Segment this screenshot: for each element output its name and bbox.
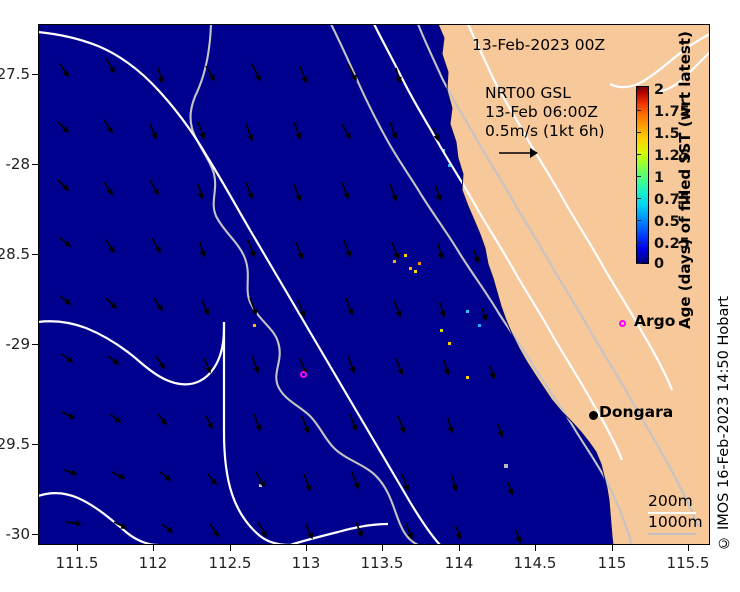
x-tick-label: 115 bbox=[598, 554, 627, 572]
x-tick-label: 113.5 bbox=[361, 554, 404, 572]
y-tick-label: -29 bbox=[6, 335, 31, 353]
colorbar-tick-label: 2 bbox=[654, 82, 664, 98]
product-label: NRT00 GSL bbox=[485, 84, 571, 102]
reference-arrow-icon bbox=[498, 146, 538, 160]
y-tick-label: -27.5 bbox=[0, 65, 30, 83]
y-tick-label: -30 bbox=[6, 525, 31, 543]
x-tick-label: 114 bbox=[445, 554, 474, 572]
x-tick-label: 112.5 bbox=[209, 554, 252, 572]
dongara-label: Dongara bbox=[599, 403, 673, 421]
x-tick-label: 114.5 bbox=[514, 554, 557, 572]
vector-scale-label: 0.5m/s (1kt 6h) bbox=[485, 122, 605, 140]
colorbar-tick-label: 0 bbox=[654, 256, 664, 272]
y-tick-label: -28 bbox=[6, 155, 31, 173]
depth-key-1000m-line bbox=[648, 533, 696, 535]
y-tick-label: -29.5 bbox=[0, 435, 30, 453]
map-figure: 13-Feb-2023 00Z NRT00 GSL 13-Feb 06:00Z … bbox=[0, 0, 740, 592]
argo-label: Argo bbox=[634, 312, 675, 330]
x-tick-label: 112 bbox=[139, 554, 168, 572]
argo-float-marker[interactable] bbox=[300, 371, 307, 378]
y-tick-label: -28.5 bbox=[0, 245, 30, 263]
valid-time-label: 13-Feb 06:00Z bbox=[485, 103, 598, 121]
map-plot-area[interactable]: 13-Feb-2023 00Z NRT00 GSL 13-Feb 06:00Z … bbox=[38, 24, 710, 545]
title-date-label: 13-Feb-2023 00Z bbox=[472, 36, 605, 54]
copyright-credit: © IMOS 16-Feb-2023 14:50 Hobart bbox=[716, 296, 732, 551]
depth-key-1000m-label: 1000m bbox=[648, 513, 703, 531]
x-tick-label: 113 bbox=[292, 554, 321, 572]
colorbar-title: Age (days) of filled SST (wrt latest) bbox=[676, 45, 694, 315]
x-tick-label: 115.5 bbox=[667, 554, 710, 572]
argo-legend-marker bbox=[619, 320, 626, 327]
x-tick-label: 111.5 bbox=[56, 554, 99, 572]
colorbar-tick-label: 1 bbox=[654, 170, 664, 186]
dongara-marker bbox=[589, 411, 598, 420]
surface-current-vectors bbox=[38, 24, 710, 545]
colorbar-gradient bbox=[636, 86, 649, 264]
depth-key-200m-label: 200m bbox=[648, 492, 693, 510]
